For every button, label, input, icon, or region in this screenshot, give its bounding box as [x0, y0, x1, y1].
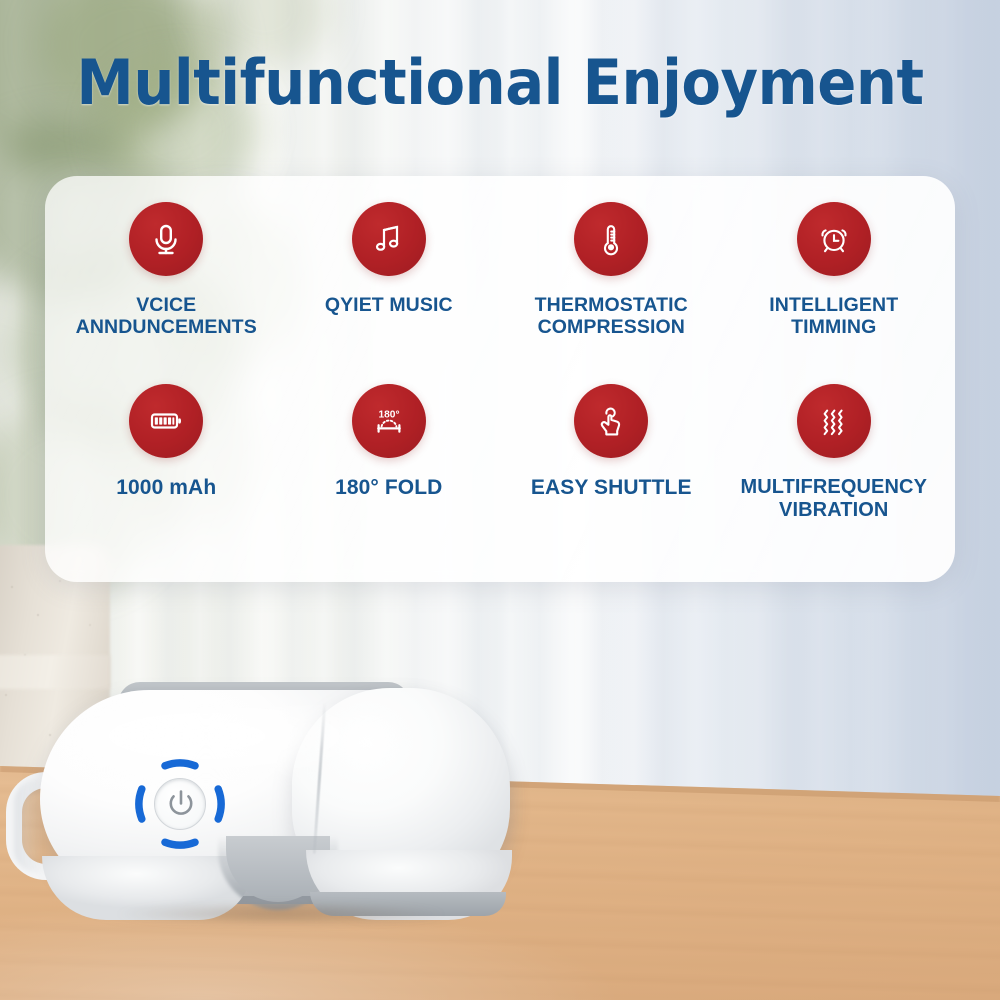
battery-icon	[129, 384, 203, 458]
feature-item-easy-shuttle: EASY SHUTTLE	[500, 384, 723, 566]
svg-text:180°: 180°	[378, 410, 399, 421]
page-title: Multifunctional Enjoyment	[35, 46, 965, 119]
touch-hand-icon	[574, 384, 648, 458]
feature-label: MULTIFREQUENCY VIBRATION	[740, 476, 927, 521]
feature-label: THERMOSTATIC COMPRESSION	[535, 294, 688, 338]
power-button[interactable]	[132, 756, 228, 852]
power-button-face[interactable]	[154, 778, 206, 830]
device-contact-shadow	[42, 896, 520, 932]
eye-massager-product	[0, 660, 620, 980]
feature-item-quiet-music: QYIET MUSIC	[278, 202, 501, 384]
feature-item-voice-announcements: VCICE ANNDUNCEMENTS	[55, 202, 278, 384]
power-symbol-icon	[155, 779, 207, 831]
vibration-icon	[797, 384, 871, 458]
music-note-icon	[352, 202, 426, 276]
thermometer-icon	[574, 202, 648, 276]
feature-grid: VCICE ANNDUNCEMENTS QYIET MUSIC	[45, 176, 955, 582]
feature-item-intelligent-timing: INTELLIGENT TIMMING	[723, 202, 946, 384]
feature-panel: VCICE ANNDUNCEMENTS QYIET MUSIC	[45, 176, 955, 582]
feature-label: QYIET MUSIC	[325, 294, 453, 316]
microphone-icon	[129, 202, 203, 276]
feature-label: INTELLIGENT TIMMING	[769, 294, 898, 338]
fold-180-icon: 180°	[352, 384, 426, 458]
feature-item-multifrequency-vibration: MULTIFREQUENCY VIBRATION	[723, 384, 946, 566]
feature-item-thermostatic-compression: THERMOSTATIC COMPRESSION	[500, 202, 723, 384]
feature-label: 1000 mAh	[116, 476, 216, 500]
feature-label: VCICE ANNDUNCEMENTS	[76, 294, 257, 338]
alarm-clock-icon	[797, 202, 871, 276]
feature-label: EASY SHUTTLE	[531, 476, 692, 500]
feature-item-180-fold: 180° 180° FOLD	[278, 384, 501, 566]
feature-item-battery-capacity: 1000 mAh	[55, 384, 278, 566]
feature-label: 180° FOLD	[335, 476, 442, 500]
device-highlight	[70, 704, 410, 784]
